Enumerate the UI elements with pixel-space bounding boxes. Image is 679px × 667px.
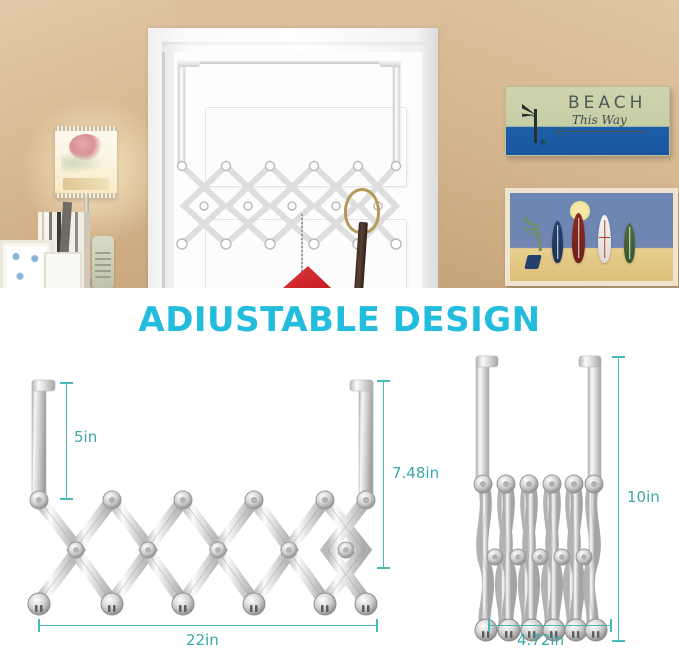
- beach-sign-heading: BEACH: [568, 93, 646, 113]
- beach-sign-art: BEACH This Way: [505, 86, 670, 156]
- product-infographic: BEACH This Way: [0, 0, 679, 667]
- collapsed-rack-diagram: 10in: [440, 344, 679, 648]
- surfboard-icon: [598, 215, 611, 263]
- bag-chain: [301, 212, 303, 274]
- dimension-label-collapsed-width: 4.72in: [517, 631, 564, 649]
- rack-arm-left: [178, 60, 185, 165]
- door-top-edge: [178, 61, 400, 64]
- page-title: ADIUSTABLE DESIGN: [0, 300, 679, 340]
- palm-trunk-icon: [534, 109, 537, 143]
- surfboard-icon: [552, 221, 563, 263]
- expanded-rack-illustration: [8, 358, 408, 648]
- dimension-label-expanded-width: 22in: [186, 631, 219, 649]
- dimension-line-expanded-height: [383, 380, 384, 569]
- left-arrow-icon: [558, 131, 648, 132]
- coconut-icon: [540, 139, 546, 145]
- expanded-rack-diagram: 5in: [8, 358, 408, 648]
- beach-sign-subheading: This Way: [572, 113, 627, 127]
- dimension-line-collapsed-width: [488, 625, 612, 626]
- door-hook-icon: [379, 60, 401, 67]
- dimension-label-arm-height: 5in: [74, 428, 97, 446]
- door-edge: [162, 52, 165, 288]
- surfboard-stripe: [629, 227, 631, 259]
- picture-frame-secondary: [44, 252, 82, 288]
- dimension-line-arm-height: [66, 382, 67, 500]
- installed-rack: [168, 60, 408, 245]
- dimension-label-collapsed-height: 10in: [627, 488, 660, 506]
- rack-arm-right: [393, 60, 400, 165]
- info-banner: ADIUSTABLE DESIGN: [0, 288, 679, 667]
- dimension-line-expanded-width: [38, 625, 378, 626]
- surfboard-icon: [624, 223, 635, 263]
- surfboard-stripe: [604, 220, 606, 258]
- surf-painting-art: [505, 188, 678, 286]
- dimension-label-expanded-height: 7.48in: [392, 464, 439, 482]
- cordless-phone: [92, 236, 114, 288]
- picture-frame-art: [6, 246, 46, 288]
- lamp-script-print: [63, 178, 109, 190]
- lamp-leaf-print: [61, 152, 105, 174]
- surfboard-stripe: [578, 218, 580, 258]
- lifestyle-photo: BEACH This Way: [0, 0, 679, 288]
- phone-keypad: [95, 252, 111, 278]
- collapsed-rack-illustration: [440, 344, 640, 648]
- lamp-shade: [55, 126, 117, 198]
- lamp-shade-trim-top: [55, 126, 117, 131]
- beach-chair-icon: [524, 255, 541, 269]
- dimension-line-collapsed-height: [618, 356, 619, 642]
- door-hook-icon: [178, 60, 200, 67]
- surfboard-stripe: [557, 225, 559, 259]
